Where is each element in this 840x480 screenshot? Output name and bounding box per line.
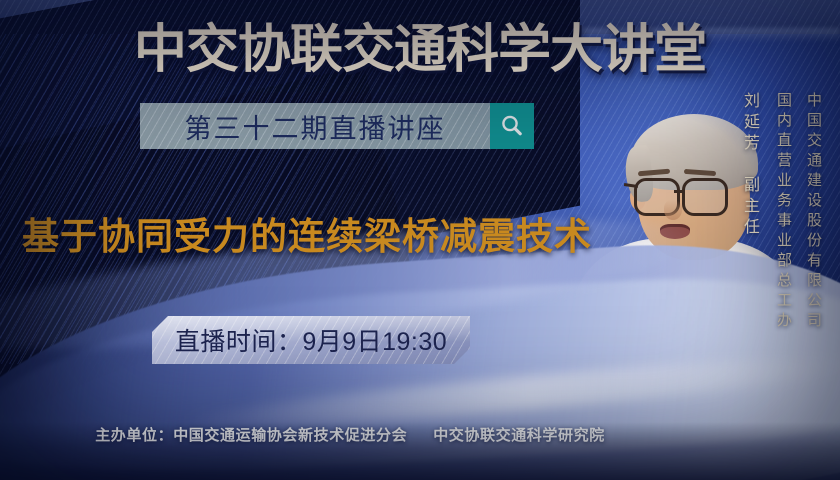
broadcast-time-badge: 直播时间：9月9日19:30 [152,316,470,364]
page-title: 中交协联交通科学大讲堂 [114,18,726,82]
speaker-organization: 中国交通建设股份有限公司 [796,92,826,327]
speaker-name-and-title: 刘延芳 副主任 [720,92,762,307]
speaker-nose [664,200,682,220]
broadcast-time-text: 直播时间：9月9日19:30 [175,322,447,358]
organizer-primary: 主办单位：中国交通运输协会新技术促进分会 [95,427,407,444]
search-button[interactable] [490,103,534,149]
eyeglasses-bridge [674,190,682,193]
organizer-secondary: 中交协联交通科学研究院 [433,427,605,444]
search-icon [499,113,525,139]
organizer-footer: 主办单位：中国交通运输协会新技术促进分会中交协联交通科学研究院 [0,424,700,445]
episode-label: 第三十二期直播讲座 [185,107,446,146]
speaker-department: 国内直营业务事业部总工办 [762,92,796,327]
speaker-credit: 中国交通建设股份有限公司 国内直营业务事业部总工办 刘延芳 副主任 [720,92,826,327]
lecture-title: 基于协同受力的连续梁桥减震技术 [22,206,612,260]
episode-banner: 第三十二期直播讲座 [140,103,490,149]
live-lecture-poster: 中交协联交通科学大讲堂 第三十二期直播讲座 基于协同受力的连续梁桥减震技术 直播… [0,0,840,480]
